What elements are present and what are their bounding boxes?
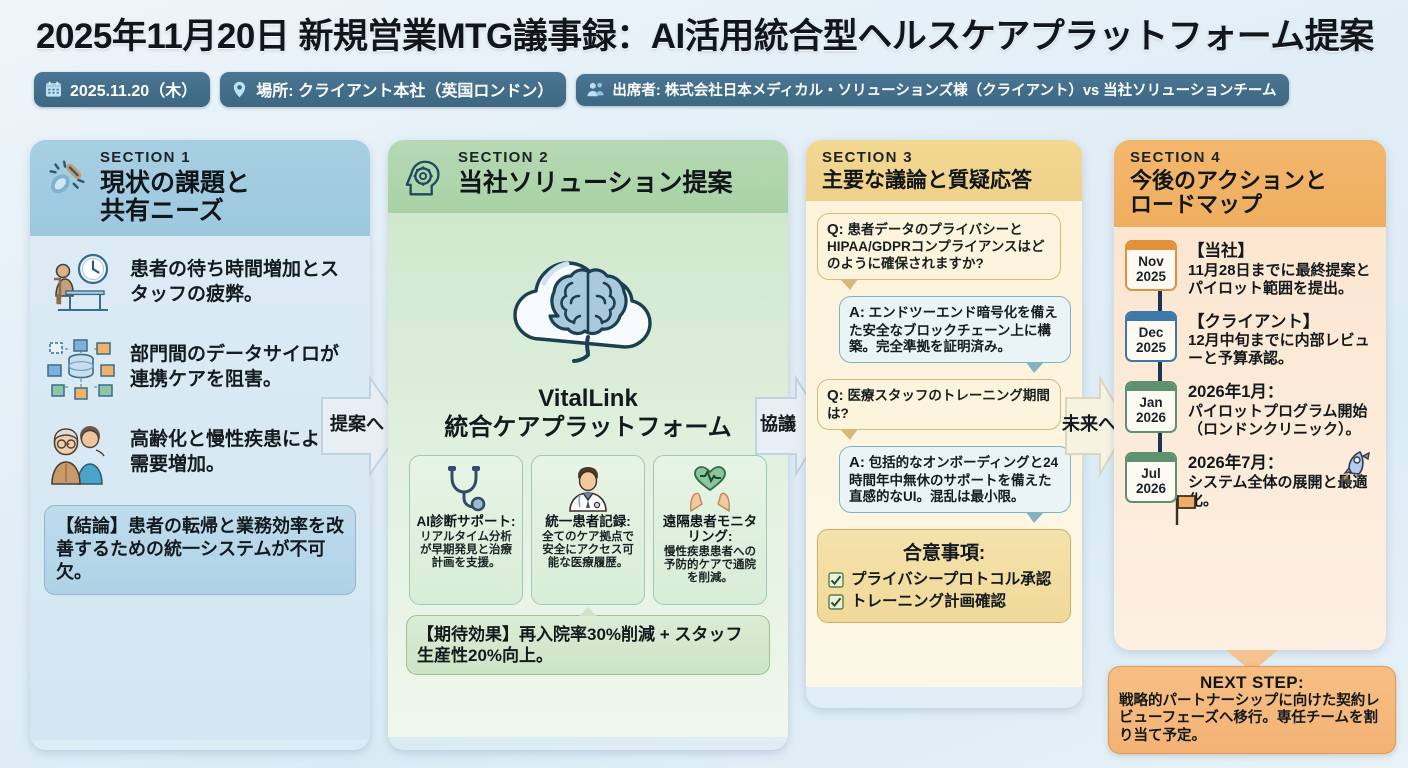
agreement-item: トレーニング計画確認 [828,591,1060,613]
timeline-row: Jul 2026 2026年7月： システム全体の展 [1125,452,1375,510]
badge-date-label: 2025.11.20（木） [70,77,197,101]
timeline-year: 2025 [1127,340,1175,355]
feature-card-desc: 慢性疾患患者への予防的ケアで通院を削減。 [659,546,761,586]
feature-card-title: 遠隔患者モニタリング: [659,514,761,544]
qa-text: 患者データのプライバシーとHIPAA/GDPRコンプライアンスはどのように確保さ… [827,222,1045,271]
section-2-header: SECTION 2 当社ソリューション提案 [388,140,788,213]
platform-name-line1: VitalLink [444,385,731,414]
page-title: 2025年11月20日 新規営業MTG議事録：AI活用統合型ヘルスケアプラットフ… [36,8,1376,59]
elderly-care-icon [44,420,118,486]
feature-card-title: 統一患者記録: [537,514,639,529]
section-3-title: 主要な議論と質疑応答 [822,169,1032,193]
qa-label: Q: [827,387,844,404]
doctor-icon [565,464,611,512]
connector-label-1: 提案へ [330,410,384,436]
connector-label-3: 未来へ [1062,410,1116,436]
next-step-text: 戦略的パートナーシップに向けた契約レビューフェーズへ移行。専任チームを割り当て予… [1119,693,1385,745]
timeline-month: Jan [1127,395,1175,410]
checkbox-checked-icon [828,572,844,588]
agreements-title: 合意事項: [828,538,1060,565]
platform-name-line2: 統合ケアプラットフォーム [444,414,731,443]
timeline-month: Jul [1127,466,1175,481]
badge-location-label: 場所: クライアント本社（英国ロンドン） [256,77,553,101]
header: 2025年11月20日 新規営業MTG議事録：AI活用統合型ヘルスケアプラットフ… [0,0,1408,120]
qa-text: エンドツーエンド暗号化を備えた安全なブロックチェーン上に構築。完全準拠を証明済み… [849,305,1058,354]
platform-name: VitalLink 統合ケアプラットフォーム [444,385,731,443]
section-1-title: 現状の課題と 共有ニーズ [100,169,250,225]
broken-chain-icon [44,156,90,202]
question-bubble: Q: 患者データのプライバシーとHIPAA/GDPRコンプライアンスはどのように… [817,213,1061,280]
timeline-date: Jan 2026 [1127,391,1175,430]
section-2-panel: SECTION 2 当社ソリューション提案 [388,140,788,750]
section-1-body: 患者の待ち時間増加とスタッフの疲弊。 [30,236,370,740]
timeline-owner: 【当社】 [1188,242,1375,262]
data-silo-icon [44,335,118,401]
expected-effect: 【期待効果】再入院率30%削減 + スタッフ生産性20%向上。 [406,615,770,676]
answer-bubble: A: 包括的なオンボーディングと24時間年中無休のサポートを備えた直感的なUI。… [839,446,1071,513]
section-1-title-line2: 共有ニーズ [100,197,250,225]
timeline-date: Nov 2025 [1127,250,1175,289]
infographic-board: 2025年11月20日 新規営業MTG議事録：AI活用統合型ヘルスケアプラットフ… [0,0,1408,768]
section-3-tag: SECTION 3 [822,150,1032,167]
list-item-label: 患者の待ち時間増加とスタッフの疲弊。 [130,258,356,307]
timeline-detail: 11月28日までに最終提案とパイロット範囲を提出。 [1188,262,1375,298]
rocket-icon [1341,448,1375,482]
list-item: 患者の待ち時間増加とスタッフの疲弊。 [44,250,356,316]
section-4-title-line1: 今後のアクションと [1130,169,1327,194]
feature-cards: AI診断サポート: リアルタイム分析が早期発見と治療計画を支援。 [402,455,774,605]
section-4-body: Nov 2025 【当社】 11月28日までに最終提案とパイロット範囲を提出。 … [1114,227,1386,650]
next-step-box: NEXT STEP: 戦略的パートナーシップに向けた契約レビューフェーズへ移行。… [1108,666,1396,754]
checkbox-checked-icon [828,594,844,610]
section-1-tag: SECTION 1 [100,150,250,167]
question-bubble: Q: 医療スタッフのトレーニング期間は? [817,379,1061,430]
feature-card: AI診断サポート: リアルタイム分析が早期発見と治療計画を支援。 [409,455,523,605]
feature-card-desc: 全てのケア拠点で安全にアクセス可能な医療履歴。 [537,531,639,571]
heart-hands-icon [687,464,733,512]
cloud-brain-icon [488,221,688,391]
section-1-conclusion: 【結論】患者の転帰と業務効率を改善するための統一システムが不可欠。 [44,505,356,595]
calendar-icon: Jul 2026 [1125,452,1177,503]
feature-card-title: AI診断サポート: [415,514,517,529]
timeline-detail: パイロットプログラム開始（ロンドンクリニック）。 [1188,403,1375,439]
timeline-year: 2026 [1127,410,1175,425]
section-3-header: SECTION 3 主要な議論と質疑応答 [806,140,1082,201]
feature-card-icon-wrap [537,462,639,514]
calendar-icon: Jan 2026 [1125,381,1177,432]
timeline-date: Jul 2026 [1127,462,1175,501]
qa-label: A: [849,454,865,471]
section-1-title-line1: 現状の課題と [100,169,250,197]
feature-card-icon-wrap [415,462,517,514]
timeline-text: 【クライアント】 12月中旬までに内部レビューと予算承認。 [1188,311,1375,369]
stethoscope-icon [443,464,489,512]
qa-label: Q: [827,221,844,238]
section-2-body: VitalLink 統合ケアプラットフォーム A [388,213,788,737]
qa-text: 包括的なオンボーディングと24時間年中無休のサポートを備えた直感的なUI。混乱は… [849,455,1058,504]
location-pin-icon [230,80,249,99]
timeline-year: 2025 [1127,269,1175,284]
timeline-detail: 12月中旬までに内部レビューと予算承認。 [1188,332,1375,368]
timeline-month: Dec [1127,325,1175,340]
people-icon [586,80,605,99]
head-gear-icon [402,156,448,202]
section-4-tag: SECTION 4 [1130,150,1327,167]
timeline-row: Dec 2025 【クライアント】 12月中旬までに内部レビューと予算承認。 [1125,311,1375,369]
header-badges: 2025.11.20（木） 場所: クライアント本社（英国ロンドン） 出席者: … [34,72,1289,107]
timeline-row: Jan 2026 2026年1月： パイロットプログラム開始（ロンドンクリニック… [1125,381,1375,439]
connector-label-2: 協議 [760,410,796,436]
feature-card: 遠隔患者モニタリング: 慢性疾患患者への予防的ケアで通院を削減。 [653,455,767,605]
roadmap-timeline: Nov 2025 【当社】 11月28日までに最終提案とパイロット範囲を提出。 … [1125,240,1375,510]
section-4-header: SECTION 4 今後のアクションと ロードマップ [1114,140,1386,227]
agreement-item-label: プライバシープロトコル承認 [851,569,1051,591]
timeline-date: Dec 2025 [1127,321,1175,360]
timeline-row: Nov 2025 【当社】 11月28日までに最終提案とパイロット範囲を提出。 [1125,240,1375,298]
feature-card-desc: リアルタイム分析が早期発見と治療計画を支援。 [415,531,517,571]
list-item: 高齢化と慢性疾患による需要増加。 [44,420,356,486]
badge-location: 場所: クライアント本社（英国ロンドン） [220,72,566,107]
timeline-text: 【当社】 11月28日までに最終提案とパイロット範囲を提出。 [1188,240,1375,298]
section-2-tag: SECTION 2 [458,150,733,167]
calendar-icon: Nov 2025 [1125,240,1177,291]
section-3-panel: SECTION 3 主要な議論と質疑応答 Q: 患者データのプライバシーとHIP… [806,140,1082,708]
platform-hero: VitalLink 統合ケアプラットフォーム [402,221,774,443]
badge-date: 2025.11.20（木） [34,72,210,107]
section-4-panel: SECTION 4 今後のアクションと ロードマップ Nov 2025 [1114,140,1386,650]
person-waiting-clock-icon [44,250,118,316]
section-2-title: 当社ソリューション提案 [458,169,733,197]
timeline-month: Nov [1127,254,1175,269]
timeline-owner: 【クライアント】 [1188,313,1375,333]
section-1-header: SECTION 1 現状の課題と 共有ニーズ [30,140,370,236]
flag-icon [1173,493,1199,532]
timeline-owner: 2026年1月： [1188,383,1375,403]
section-3-body: Q: 患者データのプライバシーとHIPAA/GDPRコンプライアンスはどのように… [806,201,1082,687]
qa-text: 医療スタッフのトレーニング期間は? [827,388,1050,420]
badge-attendees: 出席者: 株式会社日本メディカル・ソリューションズ様（クライアント）vs 当社ソ… [576,74,1289,106]
timeline-text: 2026年7月： システム全体の展開と最適化。 [1188,452,1375,510]
answer-bubble: A: エンドツーエンド暗号化を備えた安全なブロックチェーン上に構築。完全準拠を証… [839,296,1071,363]
list-item: 部門間のデータサイロが連携ケアを阻害。 [44,335,356,401]
qa-label: A: [849,304,865,321]
section-4-title-line2: ロードマップ [1130,193,1327,218]
agreements-box: 合意事項: プライバシープロトコル承認 トレーニング計画確認 [817,529,1071,622]
feature-card: 統一患者記録: 全てのケア拠点で安全にアクセス可能な医療履歴。 [531,455,645,605]
calendar-icon: Dec 2025 [1125,311,1177,362]
calendar-icon [44,80,63,99]
agreement-item-label: トレーニング計画確認 [851,591,1006,613]
section-4-title: 今後のアクションと ロードマップ [1130,169,1327,218]
next-step-title: NEXT STEP: [1119,673,1385,693]
feature-card-icon-wrap [659,462,761,514]
timeline-text: 2026年1月： パイロットプログラム開始（ロンドンクリニック）。 [1188,381,1375,439]
timeline-year: 2026 [1127,481,1175,496]
agreement-item: プライバシープロトコル承認 [828,569,1060,591]
badge-attendees-label: 出席者: 株式会社日本メディカル・ソリューションズ様（クライアント）vs 当社ソ… [612,79,1276,100]
